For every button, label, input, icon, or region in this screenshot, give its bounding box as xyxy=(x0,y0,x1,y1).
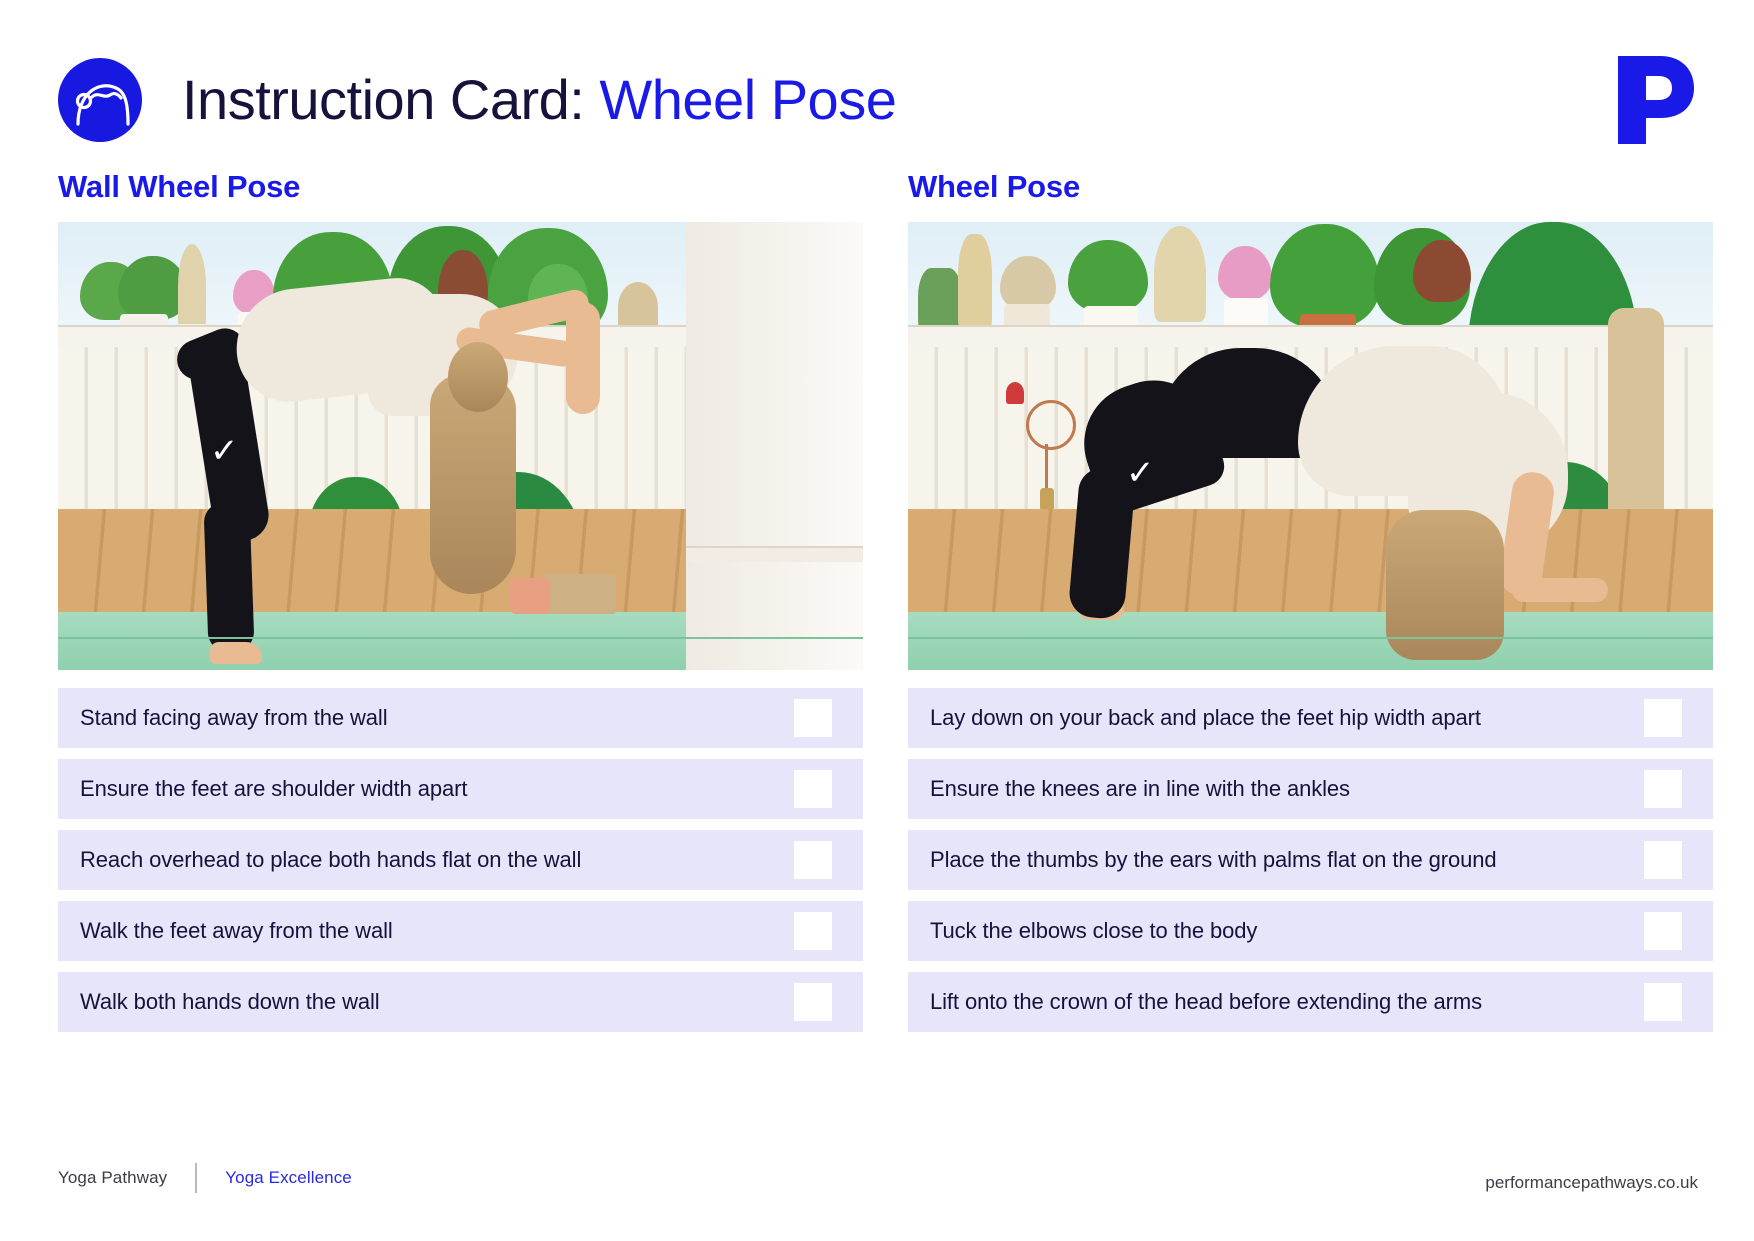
page-footer: Yoga Pathway Yoga Excellence performance… xyxy=(0,1123,1754,1241)
step-checkbox[interactable] xyxy=(1644,983,1682,1021)
photo-wall-wheel-pose: ✓ xyxy=(58,222,863,670)
list-item[interactable]: Ensure the feet are shoulder width apart xyxy=(58,759,863,819)
step-label: Ensure the knees are in line with the an… xyxy=(930,775,1350,803)
list-item[interactable]: Reach overhead to place both hands flat … xyxy=(58,830,863,890)
page-title: Instruction Card: Wheel Pose xyxy=(182,62,896,138)
step-label: Lift onto the crown of the head before e… xyxy=(930,988,1482,1016)
footer-pathway-label: Yoga Pathway xyxy=(58,1168,167,1188)
footer-divider xyxy=(195,1163,197,1193)
page-title-accent: Wheel Pose xyxy=(599,68,896,131)
step-checkbox[interactable] xyxy=(1644,912,1682,950)
list-item[interactable]: Lift onto the crown of the head before e… xyxy=(908,972,1713,1032)
page-title-main: Instruction Card: xyxy=(182,68,599,131)
list-item[interactable]: Walk both hands down the wall xyxy=(58,972,863,1032)
step-label: Walk both hands down the wall xyxy=(80,988,380,1016)
step-checkbox[interactable] xyxy=(794,841,832,879)
list-item[interactable]: Stand facing away from the wall xyxy=(58,688,863,748)
step-label: Tuck the elbows close to the body xyxy=(930,917,1257,945)
column-wheel-pose: Wheel Pose xyxy=(908,168,1713,1043)
list-item[interactable]: Walk the feet away from the wall xyxy=(58,901,863,961)
step-checkbox[interactable] xyxy=(794,699,832,737)
footer-left-group: Yoga Pathway Yoga Excellence xyxy=(58,1163,352,1193)
step-checkbox[interactable] xyxy=(794,983,832,1021)
step-checkbox[interactable] xyxy=(1644,699,1682,737)
steps-list-left: Stand facing away from the wall Ensure t… xyxy=(58,688,863,1032)
list-item[interactable]: Lay down on your back and place the feet… xyxy=(908,688,1713,748)
column-heading-left: Wall Wheel Pose xyxy=(58,168,863,206)
step-checkbox[interactable] xyxy=(794,912,832,950)
column-wall-wheel-pose: Wall Wheel Pose xyxy=(58,168,863,1043)
step-checkbox[interactable] xyxy=(794,770,832,808)
step-checkbox[interactable] xyxy=(1644,841,1682,879)
photo-wheel-pose: ✓ xyxy=(908,222,1713,670)
step-label: Lay down on your back and place the feet… xyxy=(930,704,1481,732)
step-label: Reach overhead to place both hands flat … xyxy=(80,846,581,874)
wheel-pose-figure-icon xyxy=(58,58,142,142)
step-checkbox[interactable] xyxy=(1644,770,1682,808)
steps-list-right: Lay down on your back and place the feet… xyxy=(908,688,1713,1032)
footer-excellence-label: Yoga Excellence xyxy=(225,1168,352,1188)
performance-pathways-p-logo xyxy=(1612,52,1700,148)
list-item[interactable]: Ensure the knees are in line with the an… xyxy=(908,759,1713,819)
step-label: Walk the feet away from the wall xyxy=(80,917,393,945)
step-label: Place the thumbs by the ears with palms … xyxy=(930,846,1497,874)
footer-website: performancepathways.co.uk xyxy=(1485,1173,1698,1193)
step-label: Stand facing away from the wall xyxy=(80,704,388,732)
list-item[interactable]: Place the thumbs by the ears with palms … xyxy=(908,830,1713,890)
step-label: Ensure the feet are shoulder width apart xyxy=(80,775,467,803)
list-item[interactable]: Tuck the elbows close to the body xyxy=(908,901,1713,961)
instruction-card-page: Instruction Card: Wheel Pose Wall Wheel … xyxy=(0,0,1754,1241)
page-header: Instruction Card: Wheel Pose xyxy=(0,0,1754,168)
column-heading-right: Wheel Pose xyxy=(908,168,1713,206)
